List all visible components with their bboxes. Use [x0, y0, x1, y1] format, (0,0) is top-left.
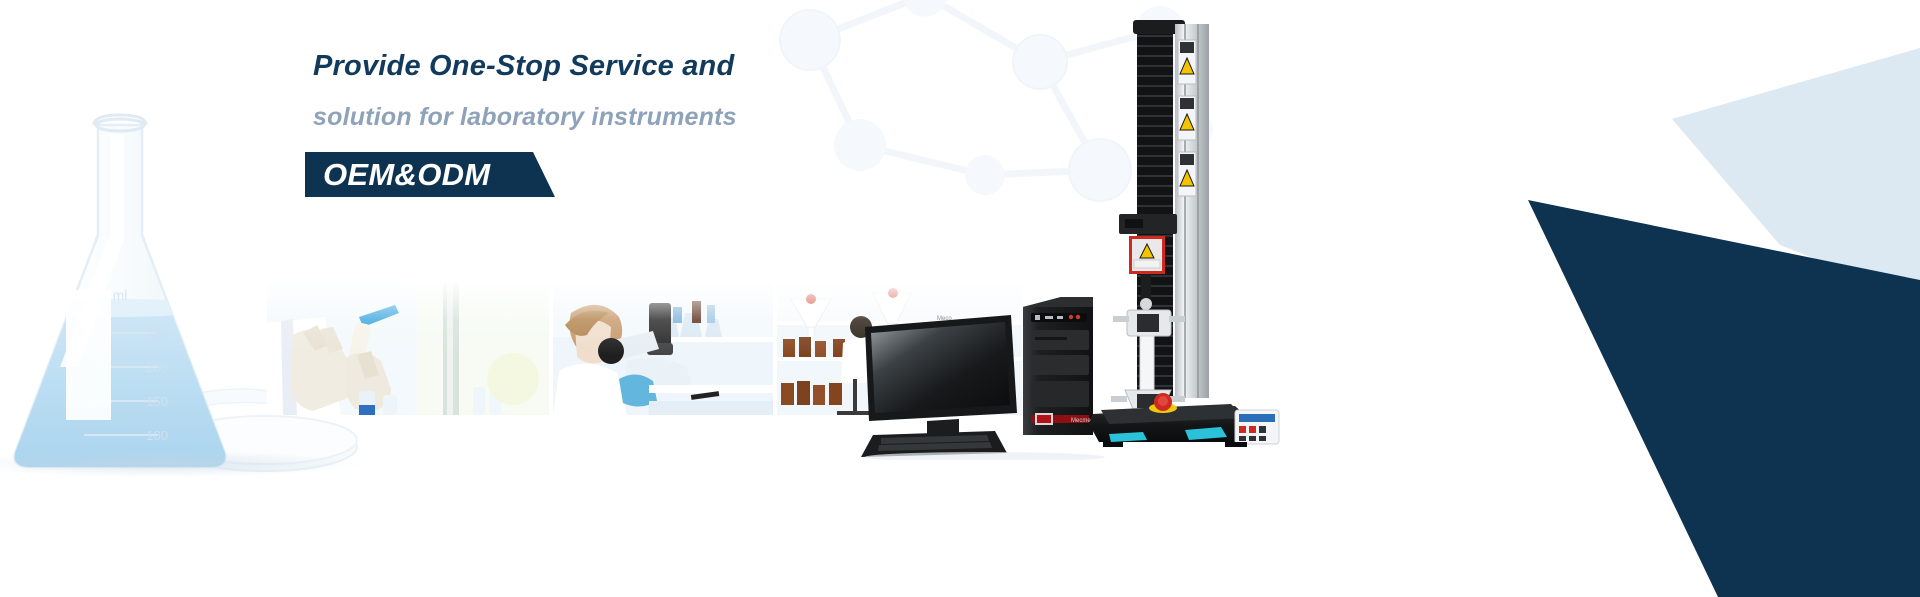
- hero-banner: 250 200 150 100 ml Provide One-Stop Serv…: [0, 0, 1920, 597]
- brand-shapes: [1450, 0, 1920, 597]
- warning-labels: [1178, 40, 1196, 196]
- svg-text:ml: ml: [113, 287, 128, 303]
- universal-testing-machine: [1085, 18, 1305, 448]
- flask-shadow: [0, 451, 358, 477]
- svg-text:200: 200: [146, 360, 168, 375]
- oem-odm-badge[interactable]: OEM&ODM: [305, 152, 516, 197]
- svg-text:100: 100: [146, 428, 168, 443]
- headline-block: Provide One-Stop Service and solution fo…: [313, 52, 1073, 130]
- svg-text:150: 150: [146, 394, 168, 409]
- photo-pipetting: [267, 283, 549, 415]
- oem-odm-badge-label: OEM&ODM: [305, 152, 516, 197]
- photo-microscope: [553, 283, 773, 415]
- headline-line-2: solution for laboratory instruments: [313, 105, 1073, 130]
- svg-text:250: 250: [146, 326, 168, 341]
- headline-line-1: Provide One-Stop Service and: [313, 52, 1073, 81]
- svg-text:Meco: Meco: [937, 316, 952, 322]
- pc-monitor: Meco: [865, 315, 1017, 445]
- upper-grip: [1113, 274, 1185, 336]
